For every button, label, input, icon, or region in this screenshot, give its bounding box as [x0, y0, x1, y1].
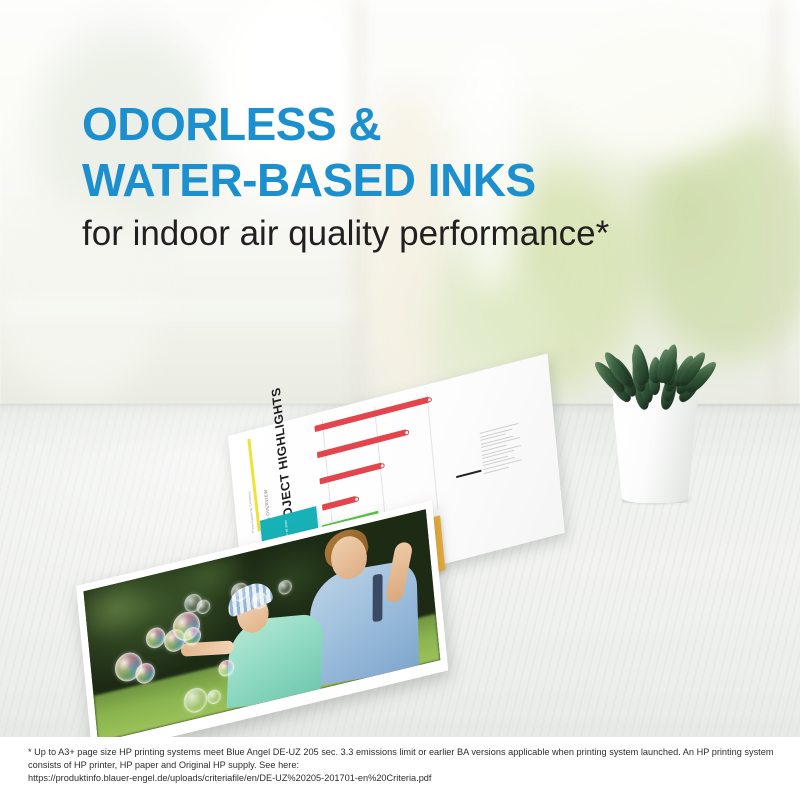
- succulent-plant: [596, 305, 716, 510]
- window-sill: [0, 300, 360, 326]
- headline-line-2: WATER-BASED INKS: [82, 152, 742, 208]
- brochure-rule: [456, 470, 481, 478]
- marketing-image: Presentation by Company BIG OVERVIEW PRO…: [0, 0, 800, 800]
- headline-block: ODORLESS & WATER-BASED INKS: [82, 96, 742, 208]
- footnote-line-1: * Up to A3+ page size HP printing system…: [28, 747, 638, 757]
- footnote-band: * Up to A3+ page size HP printing system…: [0, 737, 800, 800]
- chart-bar-endpoint: [354, 496, 359, 502]
- chart-bar-endpoint: [404, 429, 409, 435]
- chart-bar: [317, 429, 407, 458]
- footnote-url: https://produktinfo.blauer-engel.de/uplo…: [28, 773, 431, 783]
- woman-tie: [373, 574, 383, 622]
- plant-pot: [612, 393, 698, 503]
- chart-bar: [322, 496, 357, 510]
- chart-axis: [426, 393, 438, 510]
- brochure-body-lines: [480, 423, 523, 476]
- chart-bar-endpoint: [379, 463, 384, 469]
- footnote-text: * Up to A3+ page size HP printing system…: [0, 737, 800, 786]
- window-mullion: [770, 0, 784, 412]
- headline-line-1: ODORLESS &: [82, 96, 742, 152]
- headline-subtitle: for indoor air quality performance*: [82, 211, 609, 257]
- chart-bar: [319, 463, 381, 484]
- chart-bar-endpoint: [427, 397, 432, 403]
